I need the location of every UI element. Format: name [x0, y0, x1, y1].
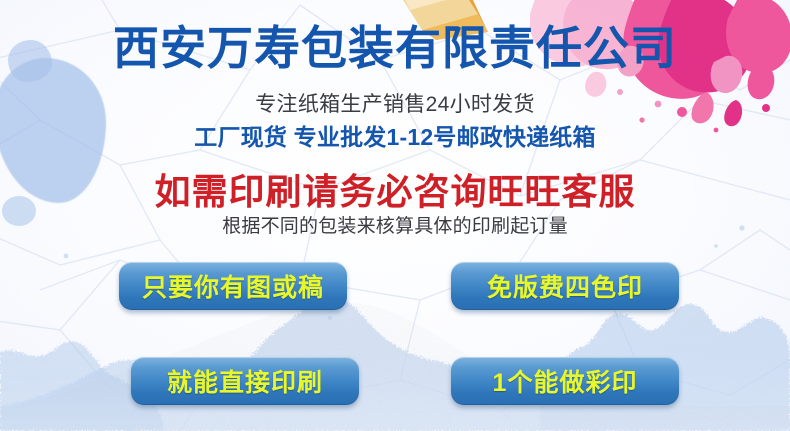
subtitle-moq: 根据不同的包装来核算具体的印刷起订量 — [0, 211, 790, 238]
subtitle-service: 专注纸箱生产销售24小时发货 — [0, 88, 790, 118]
headline-printing-notice: 如需印刷请务必咨询旺旺客服 — [0, 163, 790, 215]
promo-banner: 西安万寿包装有限责任公司 专注纸箱生产销售24小时发货 工厂现货 专业批发1-1… — [0, 0, 790, 431]
page-title: 西安万寿包装有限责任公司 — [0, 24, 790, 73]
feature-button-have-artwork[interactable]: 只要你有图或稿 — [119, 262, 347, 310]
feature-button-single-color-print[interactable]: 1个能做彩印 — [451, 357, 679, 405]
banner-content: 西安万寿包装有限责任公司 专注纸箱生产销售24小时发货 工厂现货 专业批发1-1… — [0, 0, 790, 431]
subtitle-stock: 工厂现货 专业批发1-12号邮政快递纸箱 — [0, 118, 790, 152]
feature-button-direct-print[interactable]: 就能直接印刷 — [131, 357, 359, 405]
feature-button-no-plate-fee[interactable]: 免版费四色印 — [451, 262, 679, 310]
